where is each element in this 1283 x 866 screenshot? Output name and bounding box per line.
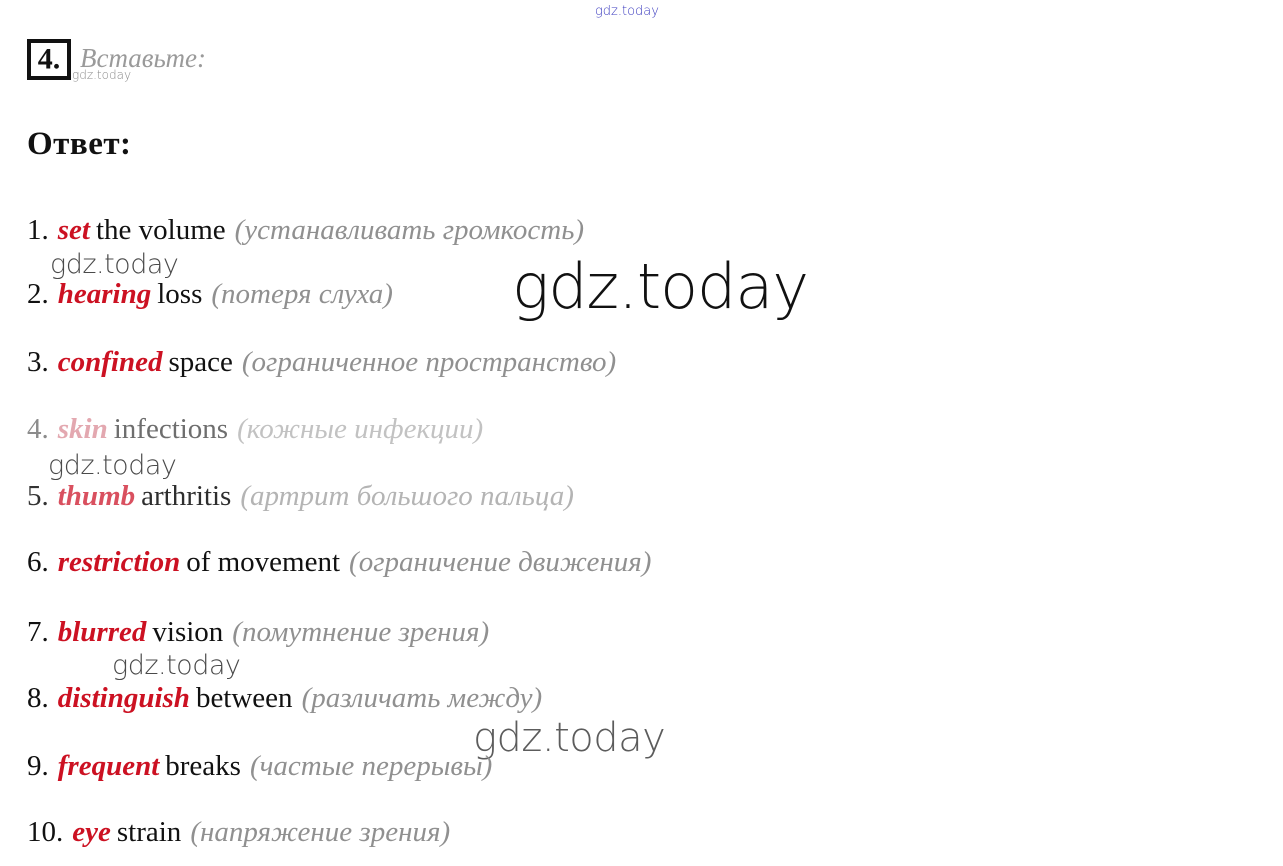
task-number-box: 4. [27, 39, 71, 80]
watermark-large-near-line-2: gdz.today [512, 250, 808, 323]
answer-index: 8. [27, 682, 49, 714]
answer-translation: (ограниченное пространство) [242, 346, 616, 378]
answer-row-2: 2.hearingloss(потеря слуха) [27, 280, 393, 309]
task-prompt: Вставьте: [80, 43, 206, 74]
answer-key: restriction [58, 546, 180, 578]
answer-key: thumb [58, 480, 135, 512]
watermark-near-line-1: gdz.today [50, 249, 178, 280]
answer-translation: (кожные инфекции) [237, 413, 483, 445]
answer-rest: strain [117, 816, 181, 848]
answer-index: 10. [27, 816, 63, 848]
answer-rest: between [196, 682, 293, 714]
answer-row-8: 8.distinguishbetween(различать между) [27, 684, 542, 713]
answer-rest: vision [152, 616, 223, 648]
answer-index: 9. [27, 750, 49, 782]
answer-rest: loss [157, 278, 202, 310]
answer-translation: (устанавливать громкость) [235, 214, 584, 246]
answer-index: 1. [27, 214, 49, 246]
answer-key: hearing [58, 278, 151, 310]
answer-translation: (ограничение движения) [349, 546, 651, 578]
answer-row-1: 1.setthe volume(устанавливать громкость) [27, 216, 584, 245]
answer-translation: (артрит большого пальца) [240, 480, 574, 512]
answer-translation: (напряжение зрения) [190, 816, 450, 848]
answer-translation: (различать между) [302, 682, 543, 714]
answer-translation: (потеря слуха) [211, 278, 393, 310]
answer-heading: Ответ: [27, 126, 132, 163]
watermark-near-line-4: gdz.today [48, 450, 176, 481]
answer-index: 5. [27, 480, 49, 512]
page-canvas: gdz.today 4. Вставьте: gdz.today Ответ: … [0, 0, 1283, 866]
answer-index: 7. [27, 616, 49, 648]
answer-row-4: 4.skininfections(кожные инфекции) [27, 415, 483, 444]
answer-row-9: 9.frequentbreaks(частые перерывы) [27, 752, 492, 781]
watermark-large-near-line-9: gdz.today [473, 715, 665, 761]
answer-key: skin [58, 413, 108, 445]
answer-rest: breaks [165, 750, 241, 782]
answer-index: 6. [27, 546, 49, 578]
answer-index: 2. [27, 278, 49, 310]
watermark-near-line-7: gdz.today [112, 650, 240, 681]
answer-key: eye [72, 816, 111, 848]
answer-key: distinguish [58, 682, 190, 714]
answer-translation: (частые перерывы) [250, 750, 492, 782]
answer-key: frequent [58, 750, 160, 782]
answer-row-7: 7.blurredvision(помутнение зрения) [27, 618, 489, 647]
answer-index: 3. [27, 346, 49, 378]
answer-key: set [58, 214, 90, 246]
answer-rest: arthritis [141, 480, 231, 512]
answer-rest: space [168, 346, 232, 378]
answer-key: confined [58, 346, 163, 378]
answer-rest: infections [114, 413, 228, 445]
answer-rest: of movement [186, 546, 340, 578]
answer-translation: (помутнение зрения) [232, 616, 489, 648]
answer-index: 4. [27, 413, 49, 445]
answer-key: blurred [58, 616, 147, 648]
answer-rest: the volume [96, 214, 226, 246]
task-number: 4. [31, 44, 67, 74]
answer-row-6: 6.restrictionof movement(ограничение дви… [27, 548, 651, 577]
answer-row-3: 3.confinedspace(ограниченное пространств… [27, 348, 616, 377]
answer-row-10: 10.eyestrain(напряжение зрения) [27, 818, 450, 847]
task-header: 4. Вставьте: gdz.today [0, 0, 1283, 110]
answer-row-5: 5.thumbarthritis(артрит большого пальца) [27, 482, 574, 511]
